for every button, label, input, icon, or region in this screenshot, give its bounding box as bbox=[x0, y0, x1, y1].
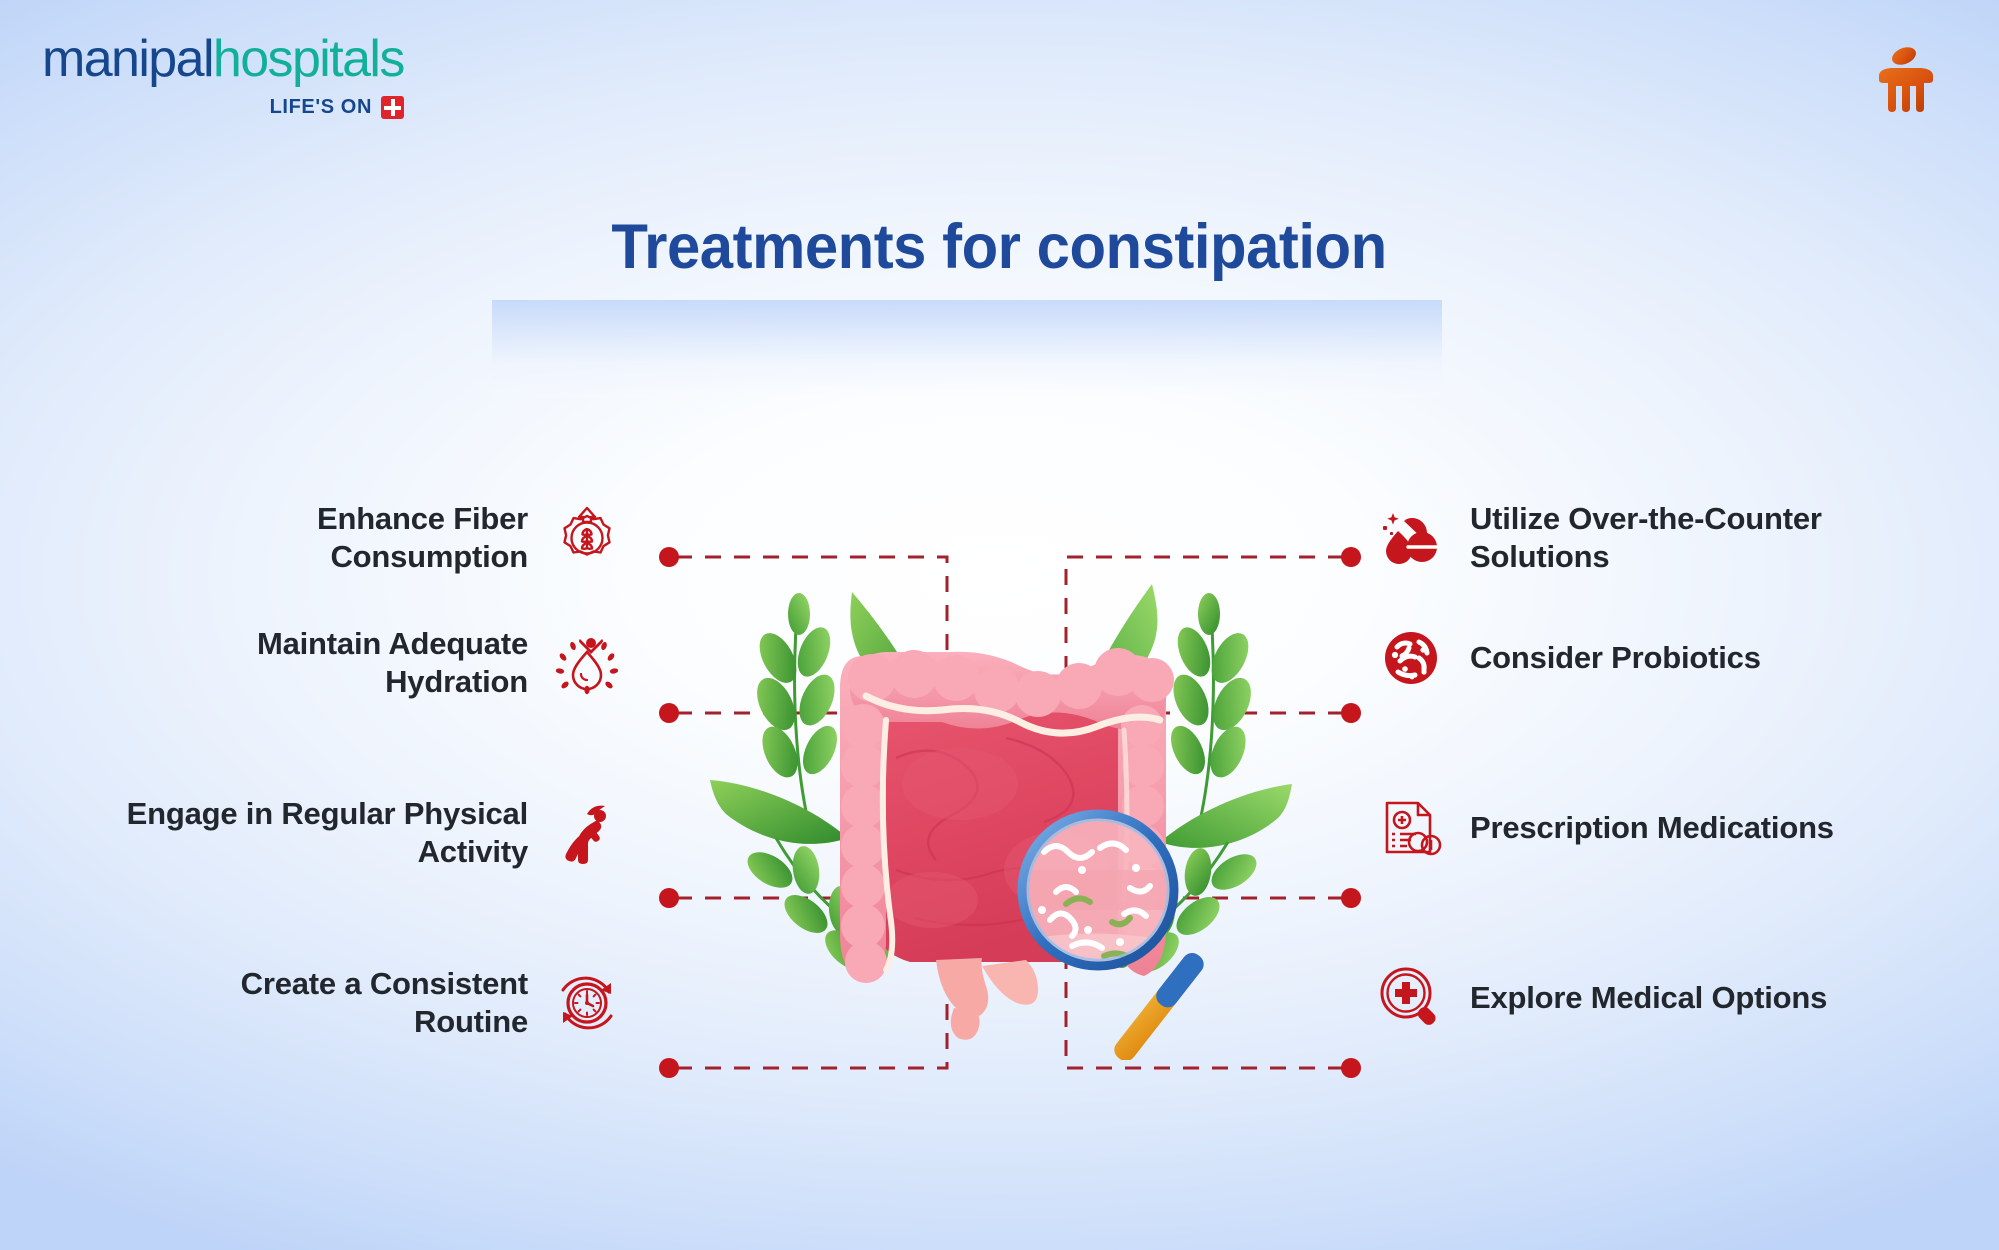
logo-word-hospitals: hospitals bbox=[213, 30, 404, 88]
corner-brand-mark-icon bbox=[1871, 42, 1941, 114]
item-maintain-adequate-hydration[interactable]: Maintain Adequate Hydration bbox=[120, 625, 620, 701]
logo-word-manipal: manipal bbox=[42, 30, 213, 88]
item-label: Prescription Medications bbox=[1470, 809, 1834, 847]
title-underbar bbox=[492, 300, 1442, 397]
pills-icon bbox=[1378, 505, 1444, 571]
prescription-document-icon bbox=[1378, 795, 1444, 861]
item-explore-medical-options[interactable]: Explore Medical Options bbox=[1378, 965, 1898, 1031]
item-label: Consider Probiotics bbox=[1470, 639, 1761, 677]
page-title: Treatments for constipation bbox=[612, 214, 1387, 280]
water-drop-icon bbox=[554, 630, 620, 696]
item-enhance-fiber-consumption[interactable]: Enhance Fiber Consumption bbox=[120, 500, 620, 576]
exercise-person-icon bbox=[554, 800, 620, 866]
medical-cross-icon bbox=[381, 96, 404, 119]
item-label: Utilize Over-the-Counter Solutions bbox=[1470, 500, 1898, 576]
item-engage-in-regular-physical-activity[interactable]: Engage in Regular Physical Activity bbox=[120, 795, 620, 871]
colon-illustration bbox=[700, 570, 1300, 1060]
logo-tagline: LIFE'S ON bbox=[42, 96, 404, 119]
magnifier-icon bbox=[1022, 814, 1208, 1060]
logo-wordmark: manipalhospitals bbox=[42, 33, 512, 85]
microbe-icon bbox=[1378, 625, 1444, 691]
item-label: Create a Consistent Routine bbox=[120, 965, 528, 1041]
clock-cycle-icon bbox=[554, 970, 620, 1036]
item-label: Engage in Regular Physical Activity bbox=[120, 795, 528, 871]
item-create-a-consistent-routine[interactable]: Create a Consistent Routine bbox=[120, 965, 620, 1041]
item-utilize-over-the-counter-solutions[interactable]: Utilize Over-the-Counter Solutions bbox=[1378, 500, 1898, 576]
wheat-badge-icon bbox=[554, 505, 620, 571]
logo-tagline-text: LIFE'S ON bbox=[270, 96, 372, 119]
infographic-page: manipalhospitals LIFE'S ON Treatments fo… bbox=[0, 0, 1999, 1250]
item-label: Explore Medical Options bbox=[1470, 979, 1827, 1017]
item-label: Maintain Adequate Hydration bbox=[120, 625, 528, 701]
item-label: Enhance Fiber Consumption bbox=[120, 500, 528, 576]
brand-logo[interactable]: manipalhospitals LIFE'S ON bbox=[42, 33, 512, 119]
page-title-wrap: Treatments for constipation bbox=[0, 214, 1999, 280]
item-consider-probiotics[interactable]: Consider Probiotics bbox=[1378, 625, 1898, 691]
magnifier-cross-icon bbox=[1378, 965, 1444, 1031]
item-prescription-medications[interactable]: Prescription Medications bbox=[1378, 795, 1898, 861]
